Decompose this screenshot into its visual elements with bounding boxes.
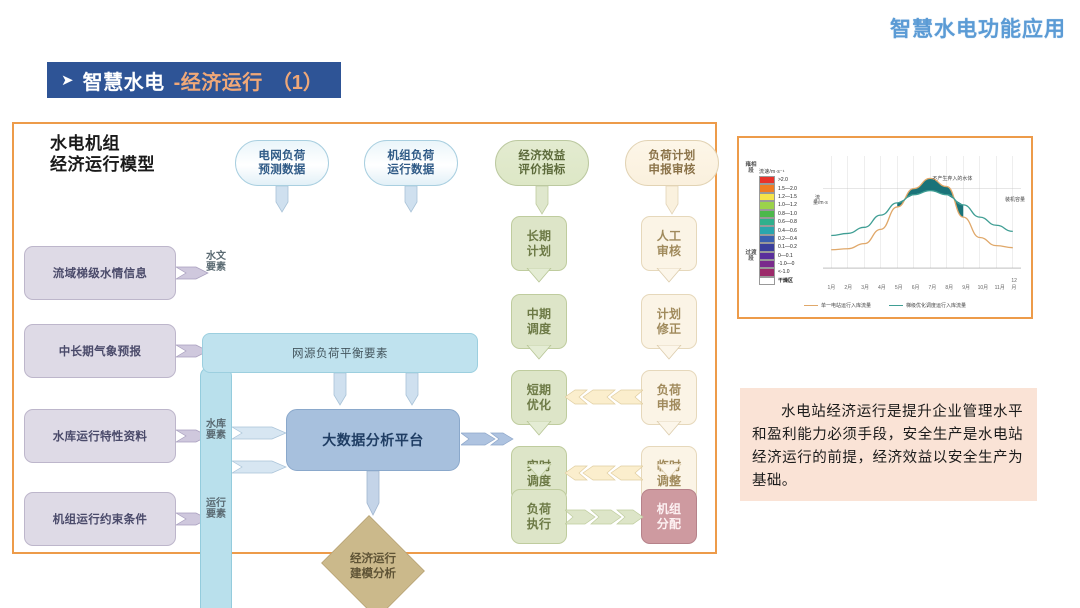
down-triangle-icon	[655, 268, 683, 296]
velocity-legend-swatch	[759, 243, 775, 251]
model-title-line1: 水电机组	[50, 133, 155, 154]
model-title-line2: 经济运行模型	[50, 154, 155, 175]
input-box-watershed[interactable]: 流域梯级水情信息	[24, 246, 176, 300]
chart-xtick-label: 2月	[844, 284, 852, 291]
velocity-legend-swatch	[759, 218, 775, 226]
down-triangle-icon	[525, 268, 553, 296]
velocity-legend: >2.01.5—2.01.2—1.51.0—1.20.8—1.00.6—0.80…	[759, 176, 813, 285]
down-triangle-icon	[655, 421, 683, 449]
input-box-unit-constraints[interactable]: 机组运行约束条件	[24, 492, 176, 546]
velocity-legend-label: 0.6—0.8	[778, 219, 797, 225]
velocity-legend-label: 0.1—0.2	[778, 244, 797, 250]
stage-load-declaration[interactable]: 负荷 申报	[641, 370, 697, 425]
input-box-label: 流域梯级水情信息	[53, 265, 147, 281]
right-arrow-icon	[232, 424, 288, 442]
velocity-legend-swatch	[759, 210, 775, 218]
section-title-part2: -经济运行	[174, 66, 263, 95]
down-triangle-icon	[525, 421, 553, 449]
section-title-bar: ➤ 智慧水电 -经济运行 （1）	[47, 62, 341, 98]
down-chevron-icon	[404, 373, 420, 407]
stage-mid-term-dispatch[interactable]: 中期 调度	[511, 294, 567, 349]
velocity-legend-row: 0.6—0.8	[759, 218, 813, 226]
chart-xtick-label: 4月	[878, 284, 886, 291]
velocity-legend-row: 0.8—1.0	[759, 210, 813, 218]
chart-legend-swatch	[804, 305, 818, 307]
velocity-legend-row: 0—0.1	[759, 252, 813, 260]
chart-legend-label: 单一电站运行入库流量	[821, 302, 871, 309]
velocity-legend-label: -1.0—0	[778, 261, 794, 267]
chart-annotation: 不产生弃入的水体	[932, 175, 972, 182]
velocity-legend-label: 0—0.1	[778, 253, 793, 259]
slide-root: 智慧水电功能应用 ➤ 智慧水电 -经济运行 （1） 水电机组 经济运行模型 流域…	[0, 0, 1080, 608]
slide-header-title: 智慧水电功能应用	[890, 13, 1066, 43]
velocity-legend-row: -1.0—0	[759, 260, 813, 268]
velocity-legend-label: <-1.0	[778, 269, 790, 275]
velocity-legend-swatch	[759, 201, 775, 209]
chart-side-label-top: 雍相段	[745, 162, 757, 174]
chart-legend-item: 单一电站运行入库流量	[804, 302, 871, 309]
velocity-legend-row: 干燥区	[759, 277, 813, 285]
chart-yaxis-title: 流量/m·s	[813, 196, 822, 207]
oval-unit-load-operation[interactable]: 机组负荷 运行数据	[364, 140, 458, 186]
bullet-arrow-icon: ➤	[61, 73, 74, 88]
velocity-legend-label: 干燥区	[778, 277, 793, 284]
velocity-legend-swatch	[759, 176, 775, 184]
velocity-legend-row: >2.0	[759, 176, 813, 184]
stage-plan-revision[interactable]: 计划 修正	[641, 294, 697, 349]
oval-load-plan-review[interactable]: 负荷计划 申报审核	[625, 140, 719, 186]
chart-xtick-label: 5月	[895, 284, 903, 291]
chart-xtick-label: 7月	[929, 284, 937, 291]
right-arrow-icon	[565, 507, 645, 527]
velocity-legend-row: 0.2—0.4	[759, 235, 813, 243]
down-triangle-icon	[525, 464, 553, 492]
chart-xtick-label: 10月	[978, 284, 989, 291]
velocity-legend-row: 0.1—0.2	[759, 243, 813, 251]
chart-side-label-bottom: 过渡段	[745, 250, 757, 262]
velocity-legend-label: 1.5—2.0	[778, 186, 797, 192]
velocity-legend-swatch	[759, 193, 775, 201]
diamond-label: 经济运行 建模分析	[317, 519, 429, 608]
chart-xtick-label: 8月	[945, 284, 953, 291]
input-box-reservoir[interactable]: 水库运行特性资料	[24, 409, 176, 463]
diagram-panel: 水电机组 经济运行模型 流域梯级水情信息 中长期气象预报 水库运行特性资料 机组…	[12, 122, 717, 554]
velocity-legend-swatch	[759, 184, 775, 192]
chart-xtick-label: 11月	[995, 284, 1005, 291]
oval-grid-load-forecast[interactable]: 电网负荷 预测数据	[235, 140, 329, 186]
left-arrow-icon	[565, 387, 643, 407]
stage-unit-allocation[interactable]: 机组 分配	[641, 489, 697, 544]
stage-short-term-optimization[interactable]: 短期 优化	[511, 370, 567, 425]
chart-inner: 雍相段 过渡段 流速/m·s⁻¹ >2.01.5—2.01.2—1.51.0—1…	[743, 142, 1027, 313]
chart-xtick-label: 12月	[1011, 278, 1021, 291]
left-arrow-icon	[565, 463, 643, 483]
velocity-legend-row: 1.5—2.0	[759, 184, 813, 192]
input-box-label: 中长期气象预报	[59, 343, 142, 359]
stage-manual-review[interactable]: 人工 审核	[641, 216, 697, 271]
chart-series-legend: 单一电站运行入库流量梯级优化调度运行入库流量	[743, 302, 1027, 309]
velocity-legend-swatch	[759, 252, 775, 260]
element-label-operation: 运行 要素	[202, 499, 230, 520]
element-column	[200, 367, 232, 608]
element-label-hydrology: 水文 要素	[202, 252, 230, 273]
velocity-legend-label: 1.0—1.2	[778, 202, 797, 208]
note-text: 水电站经济运行是提升企业管理水平和盈利能力必须手段，安全生产是水电站经济运行的前…	[752, 401, 1023, 493]
velocity-legend-swatch	[759, 260, 775, 268]
down-chevron-icon	[403, 186, 419, 214]
chart-xtick-label: 9月	[962, 284, 970, 291]
model-title: 水电机组 经济运行模型	[50, 133, 155, 176]
input-box-weather[interactable]: 中长期气象预报	[24, 324, 176, 378]
section-title-part1: 智慧水电	[83, 66, 165, 95]
stage-load-execution[interactable]: 负荷 执行	[511, 489, 567, 544]
down-chevron-icon	[664, 186, 680, 216]
chart-xtick-label: 6月	[912, 284, 920, 291]
chart-svg	[823, 156, 1021, 279]
input-box-label: 水库运行特性资料	[53, 428, 147, 444]
down-chevron-icon	[274, 186, 290, 214]
down-triangle-icon	[655, 345, 683, 373]
velocity-legend-swatch	[759, 277, 775, 285]
velocity-legend-label: 0.4—0.6	[778, 228, 797, 234]
down-chevron-icon	[332, 373, 348, 407]
velocity-legend-row: 0.4—0.6	[759, 226, 813, 234]
section-title-part3: （1）	[272, 66, 323, 95]
velocity-legend-row: 1.0—1.2	[759, 201, 813, 209]
chart-legend-swatch	[889, 305, 903, 307]
chart-xtick-label: 3月	[861, 284, 869, 291]
velocity-legend-label: 1.2—1.5	[778, 194, 797, 200]
velocity-legend-label: >2.0	[778, 177, 788, 183]
right-arrow-icon	[232, 458, 288, 476]
input-box-label: 机组运行约束条件	[53, 511, 147, 527]
velocity-legend-row: 1.2—1.5	[759, 193, 813, 201]
chart-panel: 雍相段 过渡段 流速/m·s⁻¹ >2.01.5—2.01.2—1.51.0—1…	[737, 136, 1033, 319]
velocity-legend-label: 0.8—1.0	[778, 211, 797, 217]
chart-annotation: 装机容量	[1005, 196, 1025, 203]
down-triangle-icon	[525, 345, 553, 373]
down-chevron-icon	[365, 471, 381, 517]
chart-xtick-label: 1月	[828, 284, 836, 291]
chart-legend-label: 梯级优化调度运行入库流量	[906, 302, 966, 309]
down-chevron-icon	[534, 186, 550, 216]
velocity-legend-swatch	[759, 235, 775, 243]
economic-modeling-diamond[interactable]: 经济运行 建模分析	[317, 519, 429, 608]
big-data-platform-box[interactable]: 大数据分析平台	[286, 409, 460, 471]
right-arrow-icon	[461, 430, 515, 448]
velocity-legend-row: <-1.0	[759, 268, 813, 276]
velocity-legend-caption: 流速/m·s⁻¹	[759, 168, 785, 175]
down-triangle-icon	[655, 464, 683, 492]
note-box: 水电站经济运行是提升企业管理水平和盈利能力必须手段，安全生产是水电站经济运行的前…	[740, 388, 1037, 501]
chart-plot-area	[823, 156, 1021, 279]
balance-bar: 网源负荷平衡要素	[202, 333, 478, 373]
velocity-legend-swatch	[759, 268, 775, 276]
stage-long-term-plan[interactable]: 长期 计划	[511, 216, 567, 271]
velocity-legend-label: 0.2—0.4	[778, 236, 797, 242]
element-label-reservoir: 水库 要素	[202, 420, 230, 441]
chart-legend-item: 梯级优化调度运行入库流量	[889, 302, 966, 309]
velocity-legend-swatch	[759, 226, 775, 234]
oval-economic-benefit-index[interactable]: 经济效益 评价指标	[495, 140, 589, 186]
